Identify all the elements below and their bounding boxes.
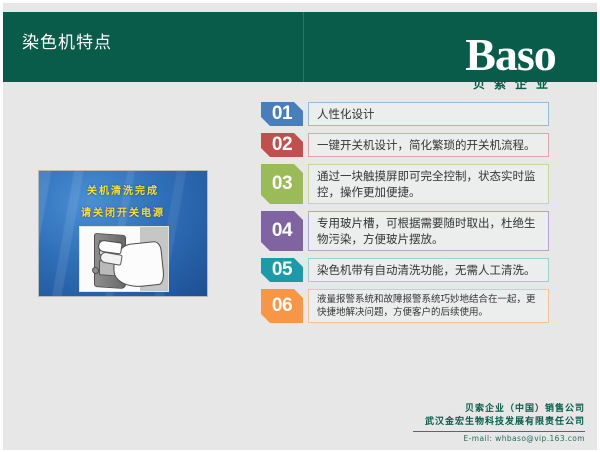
list-item: 02 一键开关机设计，简化繁琐的开关机流程。 xyxy=(261,133,549,157)
slide-header: 染色机特点 Baso xyxy=(3,12,597,82)
footer-email: E-mail: whbaso@vip.163.com xyxy=(285,434,585,443)
list-item: 06 液量报警系统和故障报警系统巧妙地结合在一起，更快捷地解决问题，方便客户的后… xyxy=(261,289,549,323)
footer-company-line1: 贝索企业（中国）销售公司 xyxy=(285,403,585,416)
power-switch-illustration xyxy=(79,226,169,292)
feature-text: 通过一块触摸屏即可完全控制，状态实时监控，操作更加便捷。 xyxy=(308,164,549,204)
feature-number-badge: 01 xyxy=(261,102,303,126)
feature-text: 人性化设计 xyxy=(308,102,549,126)
brand-logo: Baso xyxy=(428,32,593,78)
page-title: 染色机特点 xyxy=(22,28,112,53)
feature-number-badge: 03 xyxy=(261,164,303,204)
list-item: 01 人性化设计 xyxy=(261,102,549,126)
feature-text: 液量报警系统和故障报警系统巧妙地结合在一起，更快捷地解决问题，方便客户的后续使用… xyxy=(308,289,549,323)
feature-number-badge: 04 xyxy=(261,211,303,251)
product-screen-photo: 关机清洗完成 请关闭开关电源 xyxy=(38,170,208,297)
feature-number-badge: 02 xyxy=(261,133,303,157)
feature-text: 一键开关机设计，简化繁琐的开关机流程。 xyxy=(308,133,549,157)
brand-logo-main: Baso xyxy=(428,32,593,78)
brand-logo-sub: 贝索企业 xyxy=(428,75,593,92)
photo-caption-line1: 关机清洗完成 xyxy=(39,182,207,197)
feature-list: 01 人性化设计 02 一键开关机设计，简化繁琐的开关机流程。 03 通过一块触… xyxy=(261,102,549,330)
slide-footer: 贝索企业（中国）销售公司 武汉金宏生物科技发展有限责任公司 E-mail: wh… xyxy=(285,403,585,443)
slide-canvas: 染色机特点 Baso 贝索企业 关机清洗完成 请关闭开关电源 01 人性化设计 xyxy=(3,3,597,450)
machine-knob-icon xyxy=(92,267,99,274)
photo-caption-line2: 请关闭开关电源 xyxy=(39,204,207,219)
footer-company-line2: 武汉金宏生物科技发展有限责任公司 xyxy=(285,416,585,429)
footer-divider xyxy=(413,431,585,432)
list-item: 04 专用玻片槽，可根据需要随时取出，杜绝生物污染，方便玻片摆放。 xyxy=(261,211,549,251)
feature-text: 专用玻片槽，可根据需要随时取出，杜绝生物污染，方便玻片摆放。 xyxy=(308,211,549,251)
feature-number-badge: 06 xyxy=(261,289,303,323)
feature-number-badge: 05 xyxy=(261,258,303,282)
list-item: 05 染色机带有自动清洗功能，无需人工清洗。 xyxy=(261,258,549,282)
list-item: 03 通过一块触摸屏即可完全控制，状态实时监控，操作更加便捷。 xyxy=(261,164,549,204)
header-divider xyxy=(303,12,304,82)
feature-text: 染色机带有自动清洗功能，无需人工清洗。 xyxy=(308,258,549,282)
